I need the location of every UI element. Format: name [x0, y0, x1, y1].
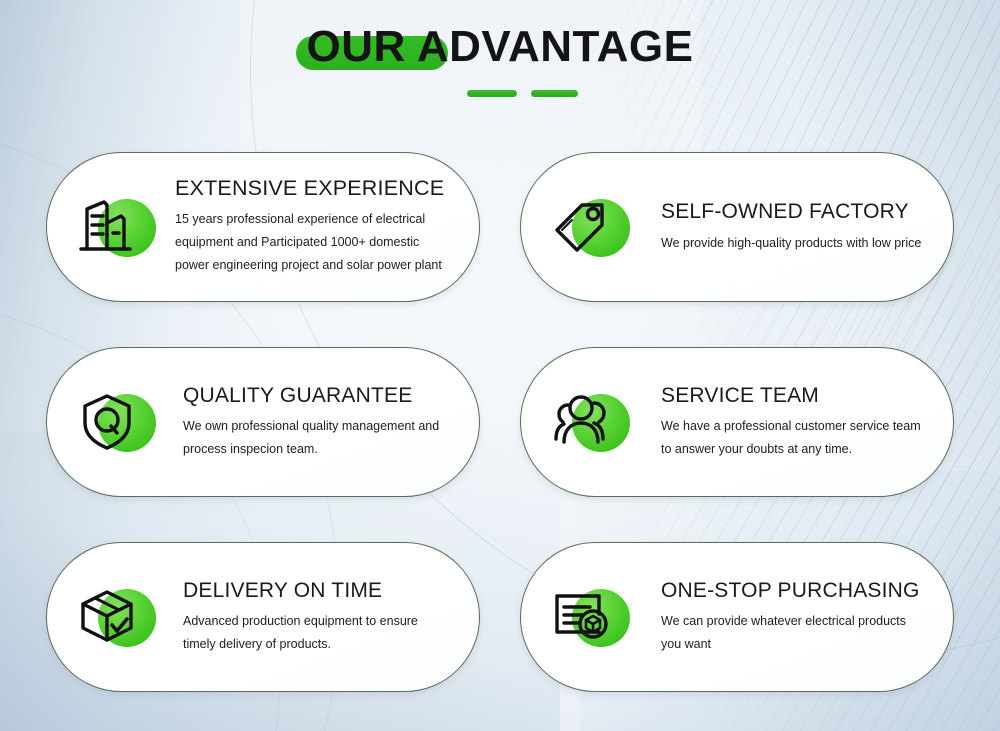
advantage-card-delivery-on-time[interactable]: DELIVERY ON TIME Advanced production equ… — [46, 542, 480, 692]
title-divider — [0, 90, 1000, 97]
card-description: We own professional quality management a… — [183, 415, 453, 461]
advantage-card-service-team[interactable]: SERVICE TEAM We have a professional cust… — [520, 347, 954, 497]
card-title: EXTENSIVE EXPERIENCE — [175, 176, 453, 202]
advantage-section: OUR ADVANTAGE — [0, 0, 1000, 731]
advantage-card-quality-guarantee[interactable]: QUALITY GUARANTEE We own professional qu… — [46, 347, 480, 497]
card-icon-slot — [61, 372, 173, 472]
price-tag-icon — [548, 192, 618, 262]
card-description: We provide high-quality products with lo… — [661, 232, 927, 255]
card-description: 15 years professional experience of elec… — [175, 208, 453, 277]
advantage-card-extensive-experience[interactable]: EXTENSIVE EXPERIENCE 15 years profession… — [46, 152, 480, 302]
card-description: We have a professional customer service … — [661, 415, 927, 461]
shield-q-icon — [74, 387, 144, 457]
card-text: DELIVERY ON TIME Advanced production equ… — [173, 578, 479, 656]
page-title-text: OUR ADVANTAGE — [306, 22, 693, 71]
card-title: DELIVERY ON TIME — [183, 578, 453, 603]
card-text: SELF-OWNED FACTORY We provide high-quali… — [647, 199, 953, 255]
card-icon-slot — [61, 567, 173, 667]
card-text: ONE-STOP PURCHASING We can provide whate… — [647, 578, 953, 656]
advantage-card-self-owned-factory[interactable]: SELF-OWNED FACTORY We provide high-quali… — [520, 152, 954, 302]
package-check-icon — [74, 582, 144, 652]
card-icon-slot — [61, 177, 173, 277]
advantage-card-grid: EXTENSIVE EXPERIENCE 15 years profession… — [46, 152, 954, 692]
card-icon-slot — [535, 372, 647, 472]
people-group-icon — [548, 387, 618, 457]
card-title: QUALITY GUARANTEE — [183, 383, 453, 408]
card-description: Advanced production equipment to ensure … — [183, 610, 453, 656]
section-header: OUR ADVANTAGE — [0, 18, 1000, 97]
card-title: SELF-OWNED FACTORY — [661, 199, 927, 224]
building-icon — [74, 192, 144, 262]
card-text: QUALITY GUARANTEE We own professional qu… — [173, 383, 479, 461]
divider-dash-2 — [531, 90, 578, 97]
card-title: SERVICE TEAM — [661, 383, 927, 408]
advantage-card-one-stop-purchasing[interactable]: ONE-STOP PURCHASING We can provide whate… — [520, 542, 954, 692]
page-title: OUR ADVANTAGE — [302, 18, 697, 76]
card-title: ONE-STOP PURCHASING — [661, 578, 927, 603]
document-package-icon — [548, 582, 618, 652]
divider-dash-1 — [467, 90, 517, 97]
card-icon-slot — [535, 567, 647, 667]
card-text: EXTENSIVE EXPERIENCE 15 years profession… — [173, 176, 479, 277]
card-icon-slot — [535, 177, 647, 277]
card-description: We can provide whatever electrical produ… — [661, 610, 927, 656]
card-text: SERVICE TEAM We have a professional cust… — [647, 383, 953, 461]
